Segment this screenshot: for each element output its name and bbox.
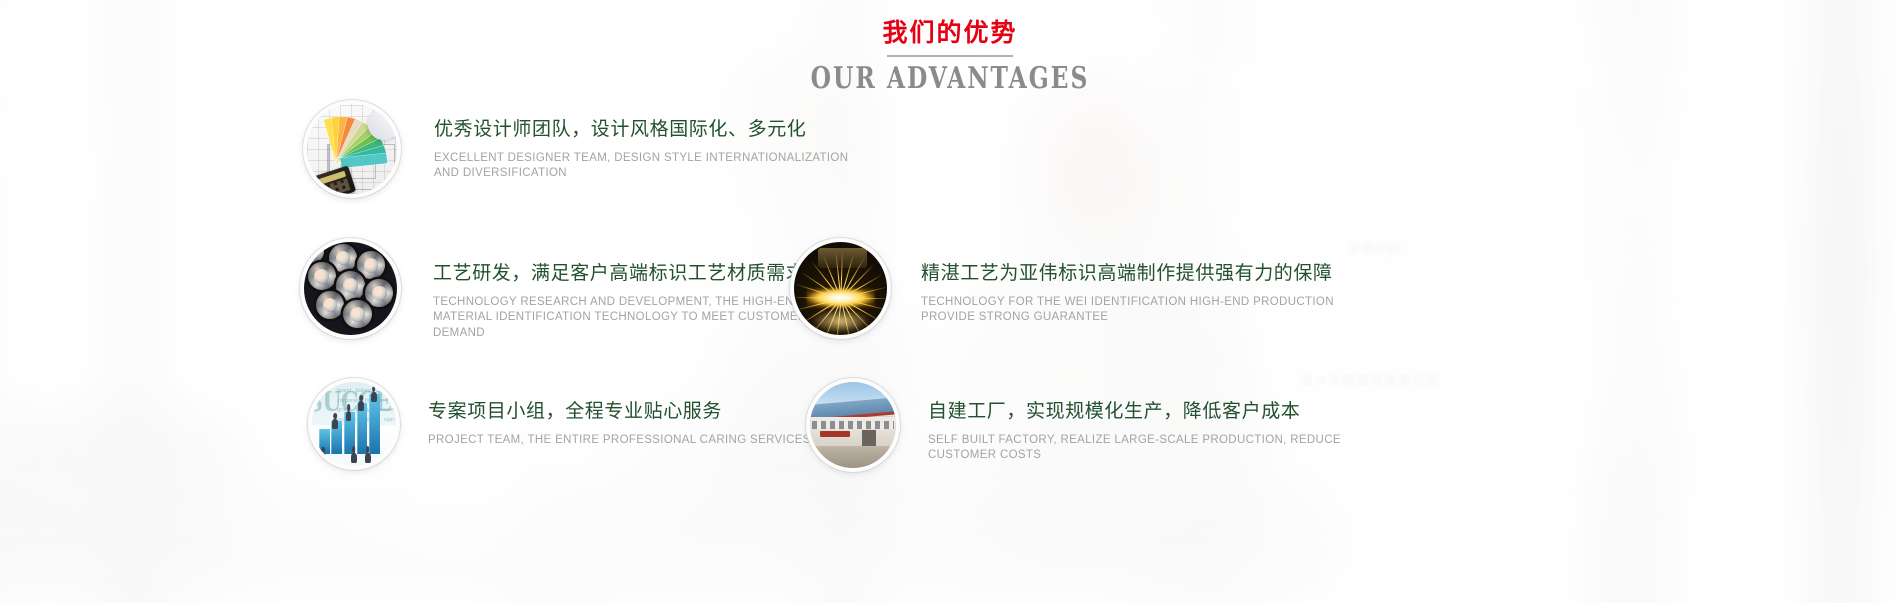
feature-heading: 专案项目小组，全程专业贴心服务 [428,400,811,424]
feature-subtitle: TECHNOLOGY FOR THE WEI IDENTIFICATION HI… [921,295,1341,326]
feature-thumb-frame [303,100,401,198]
feature-thumb-frame: SUCCESS brand balance corporate finance … [308,378,400,470]
feature-item-technology-rnd[interactable]: 工艺研发，满足客户高端标识工艺材质需求 TECHNOLOGY RESEARCH … [300,238,853,341]
feature-thumb-frame [806,378,900,472]
color-swatch-blueprint-icon [307,104,397,194]
feature-item-craftsmanship[interactable]: 精湛工艺为亚伟标识高端制作提供强有力的保障 TECHNOLOGY FOR THE… [790,238,1341,339]
feature-thumb-frame [300,238,401,339]
page-subtitle: OUR ADVANTAGES [209,61,1691,96]
feature-text-block: 自建工厂，实现规模化生产，降低客户成本 SELF BUILT FACTORY, … [928,378,1348,464]
title-divider [887,55,1013,57]
feature-subtitle: PROJECT TEAM, THE ENTIRE PROFESSIONAL CA… [428,433,811,449]
feature-heading: 优秀设计师团队，设计风格国际化、多元化 [434,118,854,142]
feature-subtitle: SELF BUILT FACTORY, REALIZE LARGE-SCALE … [928,433,1348,464]
section-header: 我们的优势 OUR ADVANTAGES [0,18,1900,96]
page-title: 我们的优势 [0,18,1900,48]
metal-pipes-icon [304,242,397,335]
success-bar-chart-icon: SUCCESS brand balance corporate finance … [312,382,396,466]
feature-subtitle: EXCELLENT DESIGNER TEAM, DESIGN STYLE IN… [434,151,854,182]
laser-cutting-icon [794,242,887,335]
factory-building-icon [810,382,896,468]
feature-heading: 自建工厂，实现规模化生产，降低客户成本 [928,400,1348,424]
feature-item-self-built-factory[interactable]: 自建工厂，实现规模化生产，降低客户成本 SELF BUILT FACTORY, … [806,378,1348,472]
feature-heading: 精湛工艺为亚伟标识高端制作提供强有力的保障 [921,262,1341,286]
feature-item-project-team[interactable]: SUCCESS brand balance corporate finance … [308,378,811,470]
feature-text-block: 优秀设计师团队，设计风格国际化、多元化 EXCELLENT DESIGNER T… [434,100,854,182]
feature-thumb-frame [790,238,891,339]
feature-text-block: 专案项目小组，全程专业贴心服务 PROJECT TEAM, THE ENTIRE… [428,378,811,448]
feature-item-designer-team[interactable]: 优秀设计师团队，设计风格国际化、多元化 EXCELLENT DESIGNER T… [303,100,854,198]
feature-text-block: 精湛工艺为亚伟标识高端制作提供强有力的保障 TECHNOLOGY FOR THE… [921,238,1341,326]
